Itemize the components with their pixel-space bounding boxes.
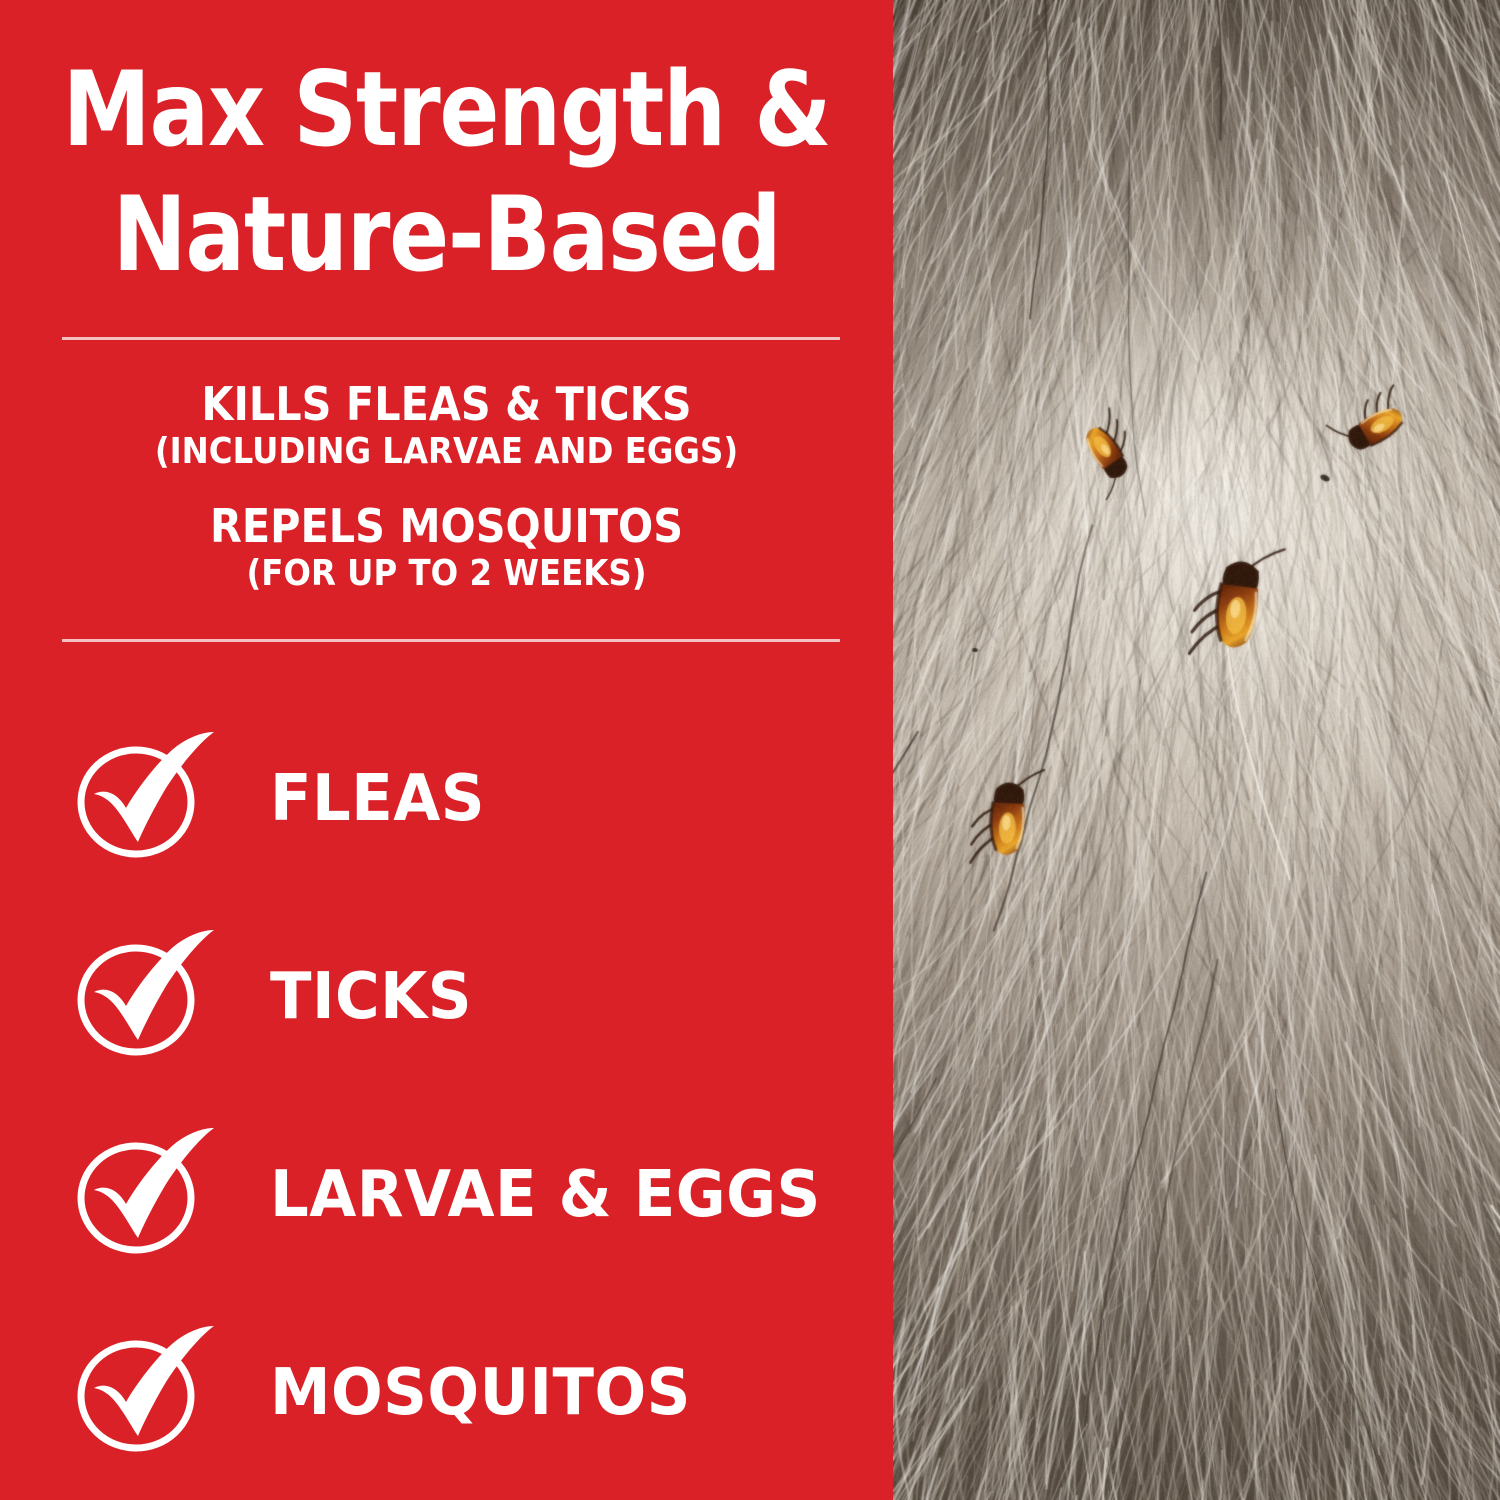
fleas-on-pet-fur-photo <box>893 0 1500 1500</box>
claim-main-text: KILLS FLEAS & TICKS <box>45 378 849 430</box>
claim-repels-mosquitos: REPELS MOSQUITOS (FOR UP TO 2 WEEKS) <box>0 500 893 596</box>
list-item: LARVAE & EGGS <box>0 1096 893 1294</box>
checklist-label: FLEAS <box>270 767 485 831</box>
list-item: FLEAS <box>0 700 893 898</box>
claim-sub-text: (FOR UP TO 2 WEEKS) <box>45 552 849 596</box>
list-item: MOSQUITOS <box>0 1294 893 1492</box>
fur-photo-canvas <box>893 0 1500 1500</box>
headline-line-1: Max Strength & <box>63 48 831 173</box>
benefit-checklist: FLEAS TICKS LARVAE & EGGS <box>0 700 893 1492</box>
checklist-label: LARVAE & EGGS <box>270 1163 821 1227</box>
claim-sub-text: (INCLUDING LARVAE AND EGGS) <box>45 430 849 474</box>
check-circle-icon <box>74 1326 226 1461</box>
divider-bottom <box>62 639 840 642</box>
claim-main-text: REPELS MOSQUITOS <box>45 500 849 552</box>
divider-top <box>62 337 840 340</box>
claims-block: KILLS FLEAS & TICKS (INCLUDING LARVAE AN… <box>0 378 893 596</box>
product-feature-graphic: Max Strength & Nature-Based KILLS FLEAS … <box>0 0 1500 1500</box>
checklist-label: TICKS <box>270 965 472 1029</box>
check-circle-icon <box>74 930 226 1065</box>
list-item: TICKS <box>0 898 893 1096</box>
check-circle-icon <box>74 732 226 867</box>
claim-kills-fleas-ticks: KILLS FLEAS & TICKS (INCLUDING LARVAE AN… <box>0 378 893 474</box>
headline-line-2: Nature-Based <box>63 173 831 298</box>
checklist-label: MOSQUITOS <box>270 1361 691 1425</box>
page-title: Max Strength & Nature-Based <box>63 48 831 298</box>
check-circle-icon <box>74 1128 226 1263</box>
red-info-panel: Max Strength & Nature-Based KILLS FLEAS … <box>0 0 893 1500</box>
